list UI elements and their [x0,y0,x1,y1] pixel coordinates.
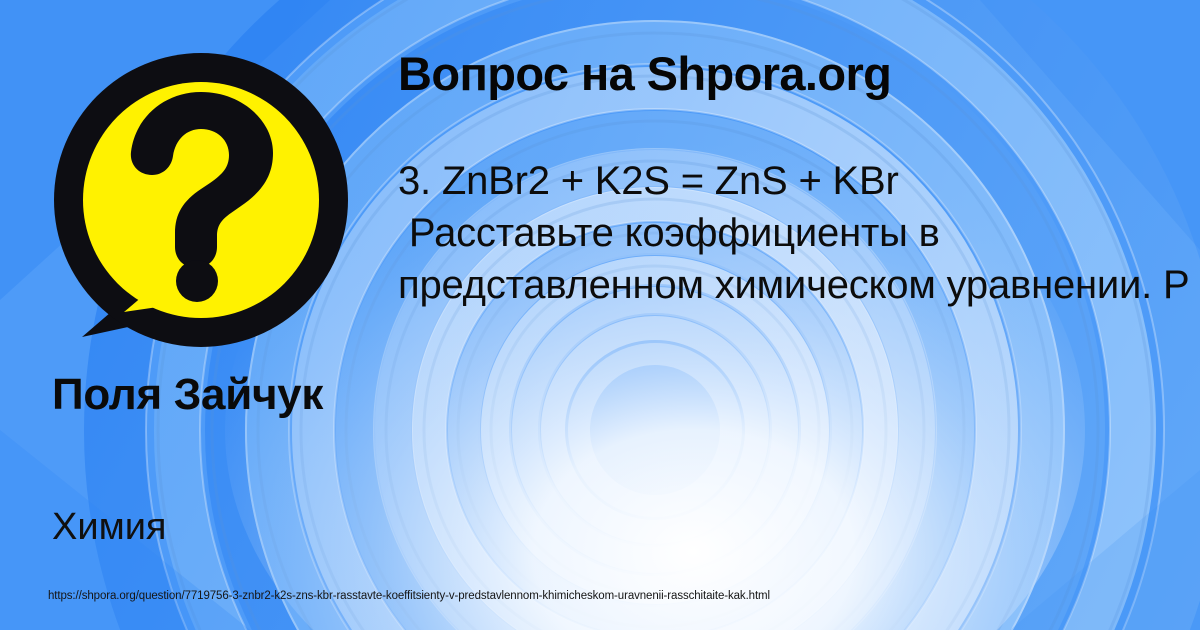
subject-label: Химия [52,508,382,548]
question-speech-bubble-icon [46,40,366,360]
question-card: Вопрос на Shpora.org 3. ZnBr2 + K2S = Zn… [0,0,1200,630]
page-title: Вопрос на Shpora.org [398,48,1188,100]
question-text: 3. ZnBr2 + K2S = ZnS + KBr Расставьте ко… [398,155,1198,311]
author-name: Поля Зайчук [52,372,382,418]
source-url[interactable]: https://shpora.org/question/7719756-3-zn… [48,590,770,602]
